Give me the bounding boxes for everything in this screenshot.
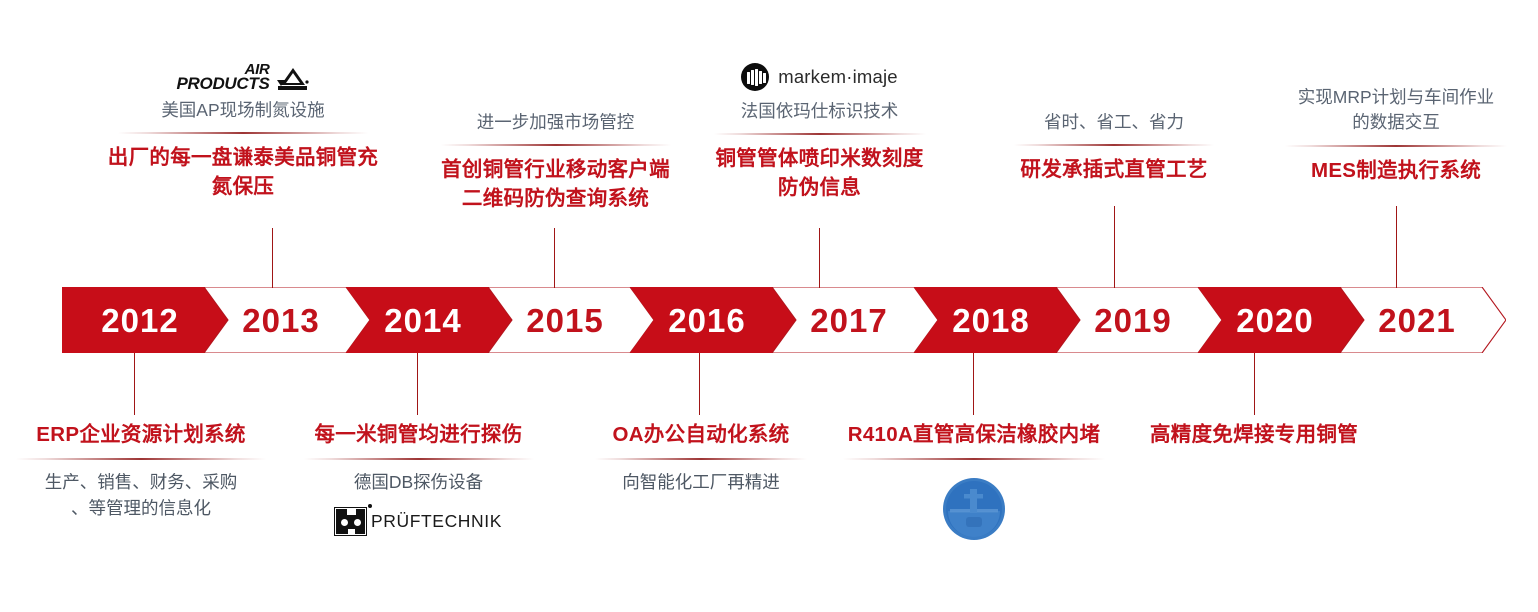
timeline-year-label: 2015 xyxy=(526,304,603,337)
entry-subtitle-top: 省时、省工、省力 xyxy=(1000,110,1228,135)
divider xyxy=(1014,144,1214,146)
divider xyxy=(1285,145,1507,147)
entry-below-2014: 每一米铜管均进行探伤 德国DB探伤设备 PRÜFTECHNIK xyxy=(296,420,541,537)
timeline-year-label: 2013 xyxy=(242,304,319,337)
entry-headline: 首创铜管行业移动客户端 二维码防伪查询系统 xyxy=(423,155,688,213)
markem-imaje-logo-name: markem·imaje xyxy=(778,66,898,88)
timeline-year-label: 2021 xyxy=(1378,304,1455,337)
entry-above-2019: 省时、省工、省力 研发承插式直管工艺 xyxy=(1000,110,1228,184)
pruftechnik-logo-dot xyxy=(368,504,372,508)
entry-below-2020: 高精度免焊接专用铜管 xyxy=(1128,420,1380,449)
entry-subtitle-top: 实现MRP计划与车间作业 的数据交互 xyxy=(1272,85,1520,136)
timeline-segment-2021[interactable]: 2021 xyxy=(1340,287,1506,353)
entry-headline: R410A直管高保洁橡胶内堵 xyxy=(834,420,1114,449)
connector-2012-below xyxy=(134,353,135,415)
divider xyxy=(595,458,807,460)
timeline-year-label: 2016 xyxy=(668,304,745,337)
connector-2020-below xyxy=(1254,353,1255,415)
divider xyxy=(843,458,1105,460)
entry-headline: 高精度免焊接专用铜管 xyxy=(1128,420,1380,449)
entry-headline: OA办公自动化系统 xyxy=(590,420,812,449)
timeline-year-label: 2018 xyxy=(952,304,1029,337)
entry-headline: MES制造执行系统 xyxy=(1272,156,1520,185)
connector-2016-below xyxy=(699,353,700,415)
timeline-year-label: 2020 xyxy=(1236,304,1313,337)
connector-2021-above xyxy=(1396,206,1397,288)
divider xyxy=(118,132,368,134)
divider xyxy=(441,144,671,146)
connector-2015-above xyxy=(554,228,555,288)
entry-above-2012: AIR PRODUCTS 美国AP现场制氮设施 出厂的每一盘谦泰美品铜管充 氮保… xyxy=(88,58,398,202)
entry-above-2015: 进一步加强市场管控 首创铜管行业移动客户端 二维码防伪查询系统 xyxy=(423,110,688,214)
timeline-infographic: AIR PRODUCTS 美国AP现场制氮设施 出厂的每一盘谦泰美品铜管充 氮保… xyxy=(0,0,1538,612)
divider xyxy=(304,458,534,460)
entry-headline: 研发承插式直管工艺 xyxy=(1000,155,1228,184)
pruftechnik-logo-name: PRÜFTECHNIK xyxy=(371,511,502,532)
connector-2019-above xyxy=(1114,206,1115,288)
connector-2016-above xyxy=(819,228,820,288)
pruftechnik-logo-mark xyxy=(335,508,366,535)
markem-imaje-logo: markem·imaje xyxy=(692,62,947,92)
entry-subtitle-bottom: 德国DB探伤设备 xyxy=(296,469,541,495)
air-products-logo: AIR PRODUCTS xyxy=(88,58,398,92)
connector-2014-below xyxy=(417,353,418,415)
timeline-year-label: 2019 xyxy=(1094,304,1171,337)
entry-subtitle-top: 法国依玛仕标识技术 xyxy=(692,99,947,124)
timeline-year-label: 2012 xyxy=(101,304,178,337)
connector-2012-above xyxy=(272,228,273,288)
entry-headline: 出厂的每一盘谦泰美品铜管充 氮保压 xyxy=(88,143,398,201)
entry-subtitle-bottom: 向智能化工厂再精进 xyxy=(590,469,812,495)
entry-above-2016: markem·imaje 法国依玛仕标识技术 铜管管体喷印米数刻度 防伪信息 xyxy=(692,62,947,203)
divider xyxy=(16,458,266,460)
timeline-year-label: 2014 xyxy=(384,304,461,337)
entry-subtitle-bottom: 生产、销售、财务、采购 、等管理的信息化 xyxy=(10,469,272,522)
blue-rubber-plug-image xyxy=(942,477,1006,541)
air-products-logo-mark xyxy=(276,66,310,92)
markem-imaje-logo-mark xyxy=(741,63,769,91)
entry-subtitle-top: 进一步加强市场管控 xyxy=(423,110,688,135)
pruftechnik-logo: PRÜFTECHNIK xyxy=(296,505,541,537)
entry-below-2016: OA办公自动化系统 向智能化工厂再精进 xyxy=(590,420,812,495)
air-products-logo-line2: PRODUCTS xyxy=(177,76,270,92)
timeline-bar: 2012 2013 2014 2015 2016 xyxy=(62,287,1476,353)
divider xyxy=(714,133,926,135)
entry-above-2021: 实现MRP计划与车间作业 的数据交互 MES制造执行系统 xyxy=(1272,85,1520,185)
entry-headline: 每一米铜管均进行探伤 xyxy=(296,420,541,449)
entry-below-2012: ERP企业资源计划系统 生产、销售、财务、采购 、等管理的信息化 xyxy=(10,420,272,522)
connector-2018-below xyxy=(973,353,974,415)
entry-headline: 铜管管体喷印米数刻度 防伪信息 xyxy=(692,144,947,202)
timeline-year-label: 2017 xyxy=(810,304,887,337)
entry-subtitle-top: 美国AP现场制氮设施 xyxy=(88,98,398,123)
entry-headline: ERP企业资源计划系统 xyxy=(10,420,272,449)
entry-below-2018: R410A直管高保洁橡胶内堵 xyxy=(834,420,1114,546)
